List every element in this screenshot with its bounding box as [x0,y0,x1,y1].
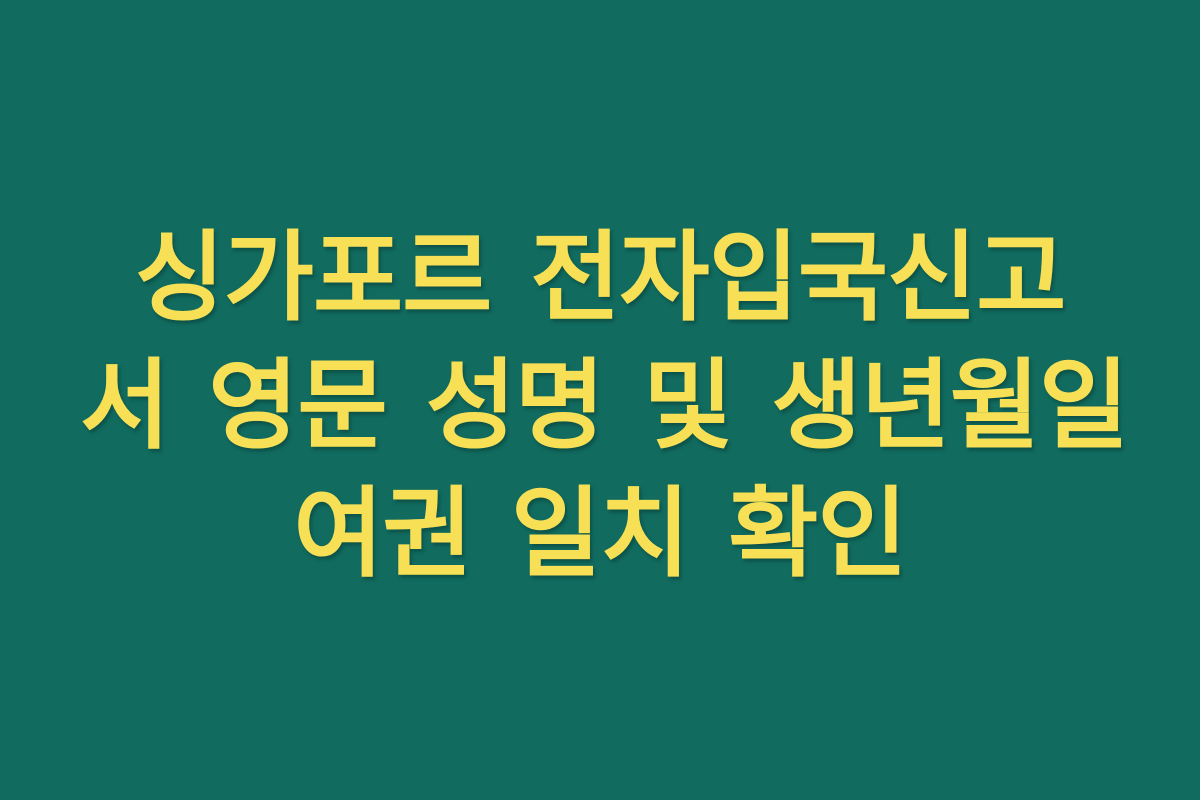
title-line-3: 여권 일치 확인 [80,470,1120,598]
title-line-1: 싱가포르 전자입국신고 [80,214,1120,342]
banner-card: 싱가포르 전자입국신고 서 영문 성명 및 생년월일 여권 일치 확인 [0,0,1200,800]
page-title: 싱가포르 전자입국신고 서 영문 성명 및 생년월일 여권 일치 확인 [80,214,1120,598]
title-line-2: 서 영문 성명 및 생년월일 [80,342,1120,470]
